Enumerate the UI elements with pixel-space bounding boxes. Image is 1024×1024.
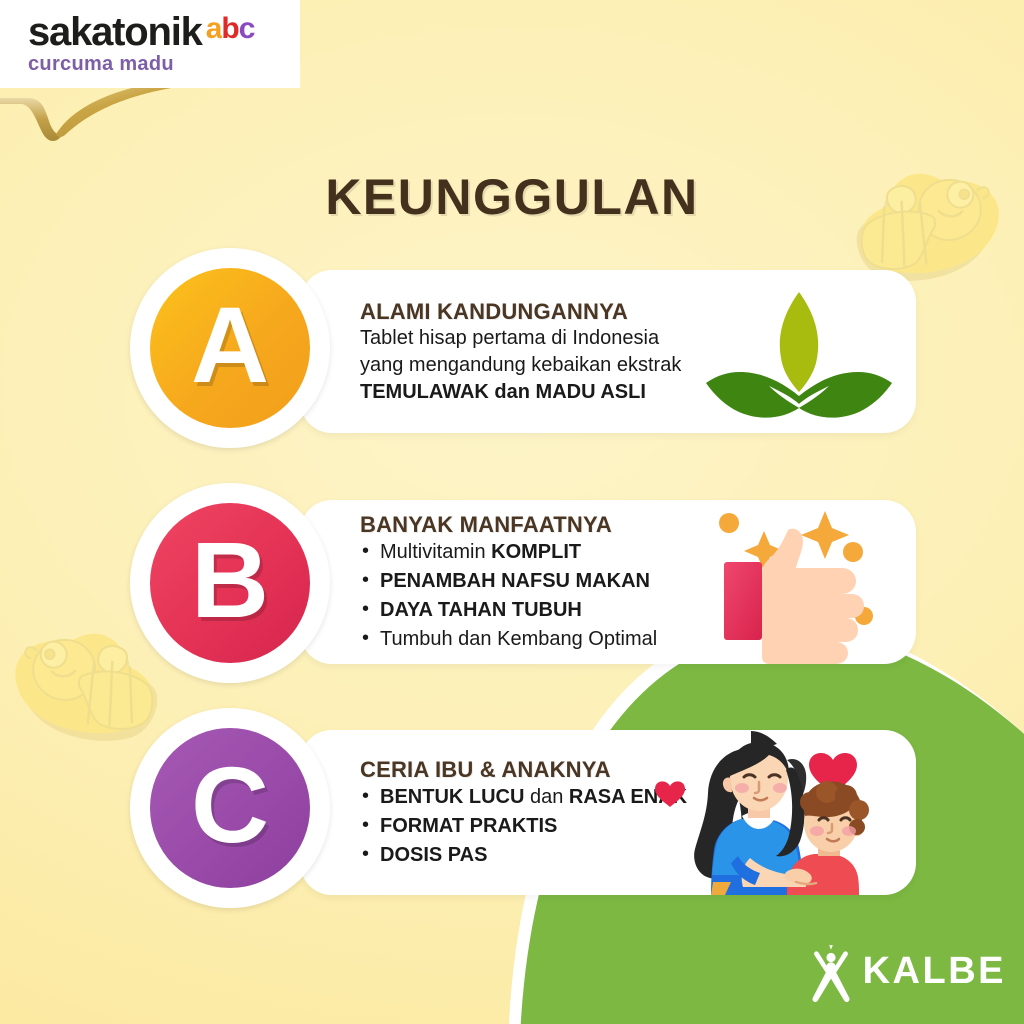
abc-letter-b: b — [221, 14, 238, 44]
kalbe-logo: KALBE — [809, 940, 1006, 1002]
badge-b: B — [130, 483, 350, 683]
abc-letter-a: a — [206, 14, 222, 44]
list-item: DAYA TAHAN TUBUH — [360, 596, 657, 625]
card-a-line-3: TEMULAWAK dan MADU ASLI — [360, 379, 718, 406]
card-a-line-1: Tablet hisap pertama di Indonesia — [360, 325, 718, 352]
badge-b-letter: B — [150, 503, 310, 663]
list-item: Tumbuh dan Kembang Optimal — [360, 625, 657, 654]
abc-letter-c: c — [239, 14, 255, 44]
brand-tagline: curcuma madu — [28, 53, 300, 76]
list-item: PENAMBAH NAFSU MAKAN — [360, 567, 657, 596]
thumbs-up-icon — [702, 500, 902, 664]
list-item: Multivitamin KOMPLIT — [360, 538, 657, 567]
benefit-card-a: ALAMI KANDUNGANNYA Tablet hisap pertama … — [300, 270, 916, 433]
brand-abc-mark: a b c — [206, 14, 255, 44]
benefit-card-b: BANYAK MANFAATNYA Multivitamin KOMPLIT P… — [300, 500, 916, 664]
badge-a: A — [130, 248, 350, 448]
brand-name: sakatonik — [28, 13, 202, 51]
badge-a-letter: A — [150, 268, 310, 428]
badge-c: C — [130, 708, 350, 908]
card-b-art — [702, 500, 902, 664]
leaves-icon — [704, 284, 894, 444]
card-a-line-2: yang mengandung kebaikan ekstrak — [360, 352, 718, 379]
brand-row: sakatonik a b c — [28, 13, 300, 51]
card-a-heading: ALAMI KANDUNGANNYA — [360, 298, 718, 326]
card-b-body: BANYAK MANFAATNYA Multivitamin KOMPLIT P… — [360, 500, 657, 664]
mother-child-icon — [638, 730, 888, 895]
card-a-art — [704, 270, 894, 433]
poster-canvas: KALBE — [0, 0, 1024, 1024]
kalbe-figure-icon — [809, 940, 853, 1002]
page-title: KEUNGGULAN — [0, 168, 1024, 226]
card-a-body: ALAMI KANDUNGANNYA Tablet hisap pertama … — [360, 270, 718, 433]
card-c-art — [638, 730, 888, 895]
badge-c-letter: C — [150, 728, 310, 888]
kalbe-wordmark: KALBE — [863, 952, 1006, 990]
brand-logo-panel: sakatonik a b c curcuma madu — [0, 0, 300, 88]
card-b-bullets: Multivitamin KOMPLIT PENAMBAH NAFSU MAKA… — [360, 538, 657, 653]
benefit-card-c: CERIA IBU & ANAKNYA BENTUK LUCU dan RASA… — [300, 730, 916, 895]
card-b-heading: BANYAK MANFAATNYA — [360, 511, 657, 539]
